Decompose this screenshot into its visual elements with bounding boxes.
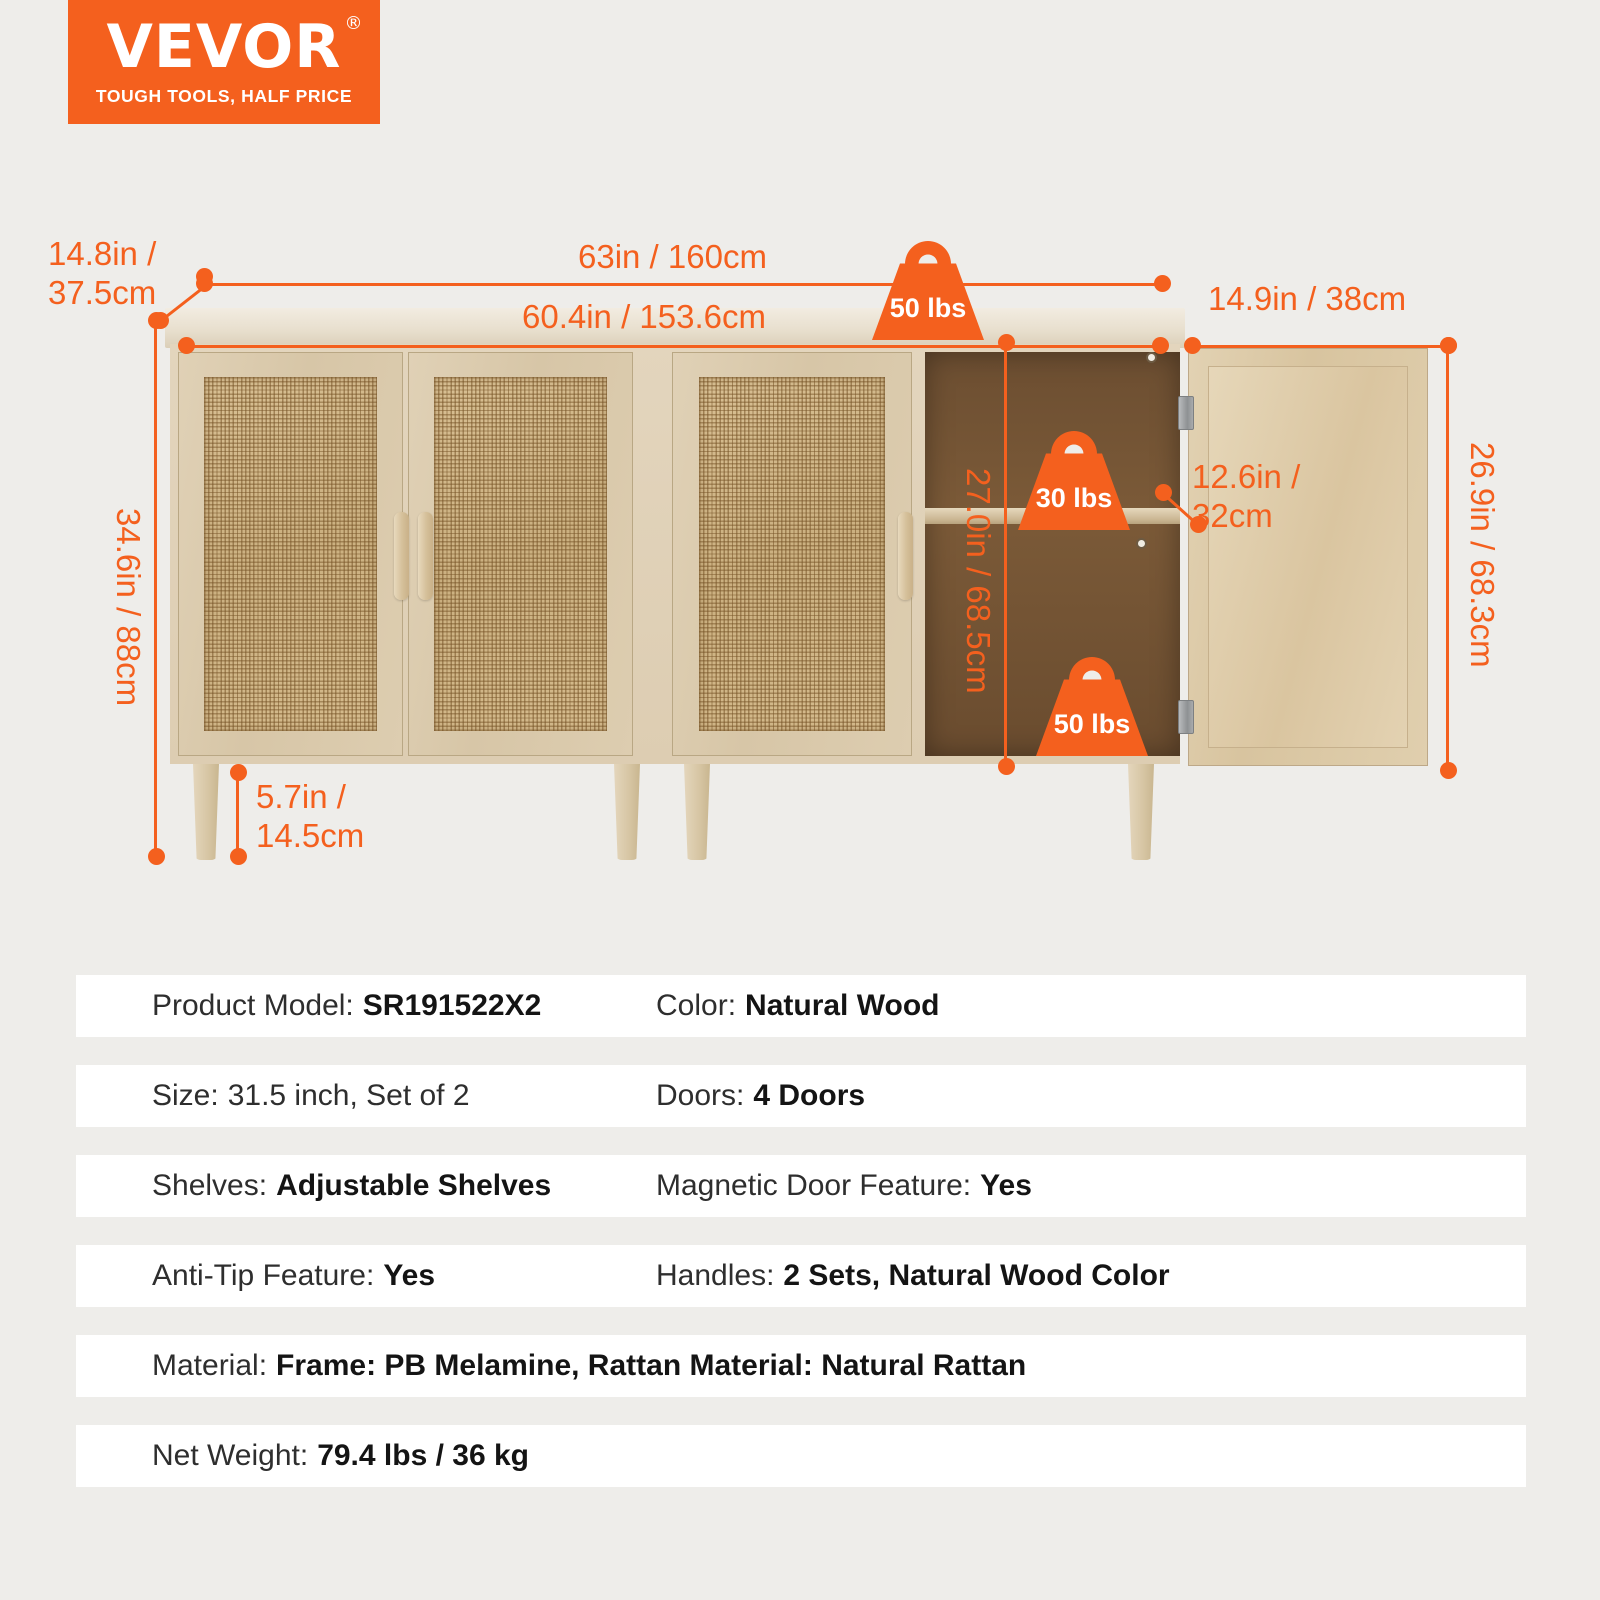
spec-value: 4 Doors xyxy=(753,1079,865,1113)
dim-dot-leg-bottom xyxy=(230,848,247,865)
spec-cell-right: Magnetic Door Feature: Yes xyxy=(656,1169,1032,1203)
dim-label-cabinet-height: 26.9in / 68.3cm xyxy=(1462,442,1501,668)
spec-value: 31.5 inch, Set of 2 xyxy=(228,1079,470,1113)
spec-key: Anti-Tip Feature: xyxy=(152,1259,374,1293)
door-back-panel xyxy=(1208,366,1408,749)
spec-value: 79.4 lbs / 36 kg xyxy=(317,1439,529,1473)
cabinet-door-2[interactable] xyxy=(408,352,633,756)
spec-key: Material: xyxy=(152,1349,267,1383)
spec-key: Size: xyxy=(152,1079,219,1113)
dim-dot-shelf-start xyxy=(1155,484,1172,501)
dim-dot-rdepth-left xyxy=(1184,337,1201,354)
spec-cell-left: Product Model: SR191522X2 xyxy=(76,989,656,1023)
dim-dot-width-left xyxy=(196,275,213,292)
dim-label-right-depth: 14.9in / 38cm xyxy=(1208,280,1406,319)
dim-dot-cabheight-top xyxy=(1440,337,1457,354)
cabinet-door-1[interactable] xyxy=(178,352,403,756)
cabinet-leg-4 xyxy=(1128,764,1154,860)
spec-value: SR191522X2 xyxy=(363,989,541,1023)
spec-value: 2 Sets, Natural Wood Color xyxy=(783,1259,1169,1293)
table-row: Material: Frame: PB Melamine, Rattan Mat… xyxy=(76,1335,1526,1397)
spec-key: Shelves: xyxy=(152,1169,267,1203)
spec-key: Doors: xyxy=(656,1079,744,1113)
dim-dot-shelf-end xyxy=(1190,516,1207,533)
cabinet-illustration xyxy=(0,0,1600,950)
spec-key: Net Weight: xyxy=(152,1439,308,1473)
cabinet-leg-2 xyxy=(614,764,640,860)
door-handle-1[interactable] xyxy=(394,512,409,600)
spec-cell-left: Anti-Tip Feature: Yes xyxy=(76,1259,656,1293)
weight-badge-bottom: 50 lbs xyxy=(1036,658,1148,756)
dim-dot-interior-top xyxy=(998,334,1015,351)
rattan-panel xyxy=(204,377,378,731)
door-handle-3[interactable] xyxy=(898,512,913,600)
weight-badge-label: 30 lbs xyxy=(1018,483,1130,514)
dim-line-cabinet-height xyxy=(1446,345,1449,770)
shelf-screw-lower xyxy=(1136,538,1147,549)
dim-label-overall-width: 63in / 160cm xyxy=(578,238,767,277)
door-handle-2[interactable] xyxy=(418,512,433,600)
table-row: Shelves: Adjustable Shelves Magnetic Doo… xyxy=(76,1155,1526,1217)
spec-cell-left: Material: Frame: PB Melamine, Rattan Mat… xyxy=(76,1349,1026,1383)
dim-label-depth-left: 14.8in / 37.5cm xyxy=(48,235,156,313)
dim-dot-interior-bottom xyxy=(998,758,1015,775)
cabinet-door-4-open[interactable] xyxy=(1188,348,1428,766)
dim-line-body-width xyxy=(186,345,1168,348)
table-row: Size: 31.5 inch, Set of 2 Doors: 4 Doors xyxy=(76,1065,1526,1127)
dim-label-body-width: 60.4in / 153.6cm xyxy=(522,298,766,337)
dim-line-right-depth xyxy=(1192,345,1448,348)
dim-dot-cabheight-bottom xyxy=(1440,762,1457,779)
rattan-panel xyxy=(434,377,608,731)
dim-dot-width-right xyxy=(1154,275,1171,292)
dim-line-overall-width xyxy=(204,283,1170,286)
specification-table: Product Model: SR191522X2 Color: Natural… xyxy=(76,975,1526,1515)
dim-line-interior-height xyxy=(1004,342,1007,766)
shelf-screw-upper xyxy=(1146,352,1157,363)
spec-key: Magnetic Door Feature: xyxy=(656,1169,971,1203)
weight-badge-label: 50 lbs xyxy=(1036,709,1148,740)
spec-key: Handles: xyxy=(656,1259,774,1293)
spec-value: Yes xyxy=(980,1169,1032,1203)
spec-key: Product Model: xyxy=(152,989,354,1023)
spec-cell-right: Color: Natural Wood xyxy=(656,989,939,1023)
table-row: Net Weight: 79.4 lbs / 36 kg xyxy=(76,1425,1526,1487)
dim-dot-height-bottom xyxy=(148,848,165,865)
table-row: Product Model: SR191522X2 Color: Natural… xyxy=(76,975,1526,1037)
dim-dot-height-top xyxy=(148,312,165,329)
weight-badge-top: 50 lbs xyxy=(872,242,984,340)
dim-dot-body-left xyxy=(178,337,195,354)
dim-label-shelf-depth: 12.6in / 32cm xyxy=(1192,458,1300,536)
dim-label-interior-height: 27.0in / 68.5cm xyxy=(958,468,997,694)
rattan-panel xyxy=(699,377,885,731)
dim-line-leg-height xyxy=(236,772,239,856)
spec-cell-left: Shelves: Adjustable Shelves xyxy=(76,1169,656,1203)
product-spec-page: VEVOR ® TOUGH TOOLS, HALF PRICE xyxy=(0,0,1600,1600)
spec-cell-right: Doors: 4 Doors xyxy=(656,1079,865,1113)
spec-value: Adjustable Shelves xyxy=(276,1169,551,1203)
spec-key: Color: xyxy=(656,989,736,1023)
weight-badge-label: 50 lbs xyxy=(872,293,984,324)
spec-value: Natural Wood xyxy=(745,989,939,1023)
spec-cell-left: Net Weight: 79.4 lbs / 36 kg xyxy=(76,1439,529,1473)
dim-dot-body-right xyxy=(1152,337,1169,354)
cabinet-leg-3 xyxy=(684,764,710,860)
door-hinge-top xyxy=(1178,396,1194,430)
door-hinge-bottom xyxy=(1178,700,1194,734)
cabinet-leg-1 xyxy=(193,764,219,860)
spec-cell-right: Handles: 2 Sets, Natural Wood Color xyxy=(656,1259,1170,1293)
dim-line-overall-height xyxy=(154,318,157,856)
dim-label-leg-height: 5.7in / 14.5cm xyxy=(256,778,364,856)
cabinet-door-3[interactable] xyxy=(672,352,912,756)
table-row: Anti-Tip Feature: Yes Handles: 2 Sets, N… xyxy=(76,1245,1526,1307)
dim-dot-leg-top xyxy=(230,764,247,781)
spec-cell-left: Size: 31.5 inch, Set of 2 xyxy=(76,1079,656,1113)
weight-badge-shelf: 30 lbs xyxy=(1018,432,1130,530)
dim-label-overall-height: 34.6in / 88cm xyxy=(108,508,147,706)
spec-value: Yes xyxy=(383,1259,435,1293)
spec-value: Frame: PB Melamine, Rattan Material: Nat… xyxy=(276,1349,1026,1383)
